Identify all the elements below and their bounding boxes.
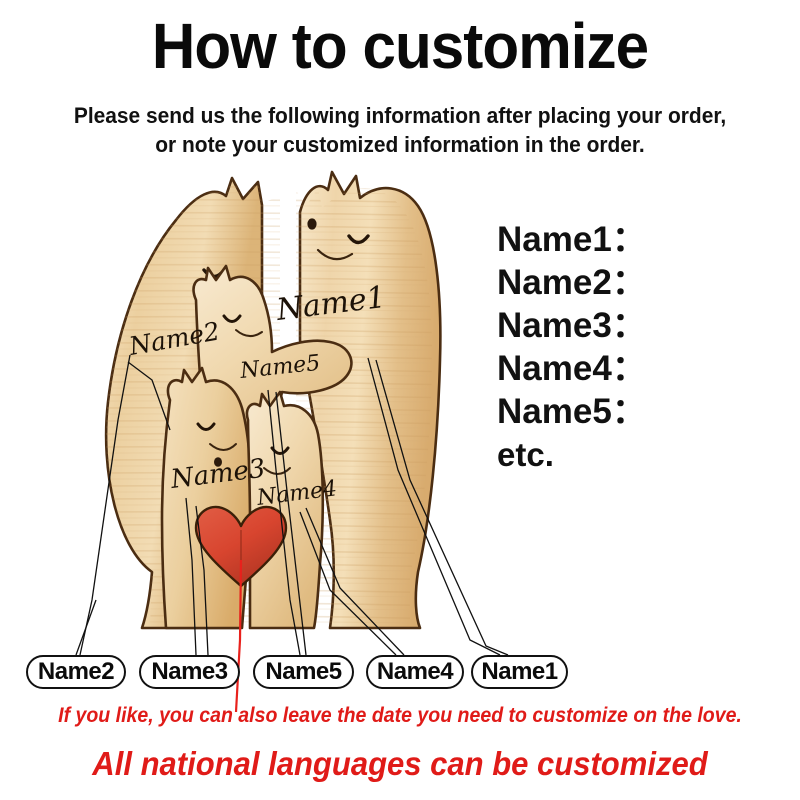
name-list-row-3: Name3：: [497, 304, 647, 347]
callout-box-name3: Name3: [139, 655, 240, 689]
callout-box-name5: Name5: [253, 655, 354, 689]
name-list-row-4: Name4：: [497, 347, 647, 390]
name-list-row-etc: etc.: [497, 433, 647, 476]
name-list-row-2: Name2：: [497, 261, 647, 304]
customization-instruction-page: How to customize Please send us the foll…: [0, 0, 800, 800]
bear-name3: [162, 368, 251, 628]
name-list-row-5: Name5：: [497, 390, 647, 433]
callout-box-name1: Name1: [471, 655, 568, 689]
callout-box-name4: Name4: [366, 655, 464, 689]
name-list-row-1: Name1：: [497, 218, 647, 261]
footer-note: If you like, you can also leave the date…: [28, 704, 772, 728]
footer-banner: All national languages can be customized: [24, 745, 776, 783]
callout-box-name2: Name2: [26, 655, 126, 689]
bear-nose-icon: [307, 218, 316, 229]
name-input-list: Name1： Name2： Name3： Name4： Name5： etc.: [497, 218, 647, 476]
